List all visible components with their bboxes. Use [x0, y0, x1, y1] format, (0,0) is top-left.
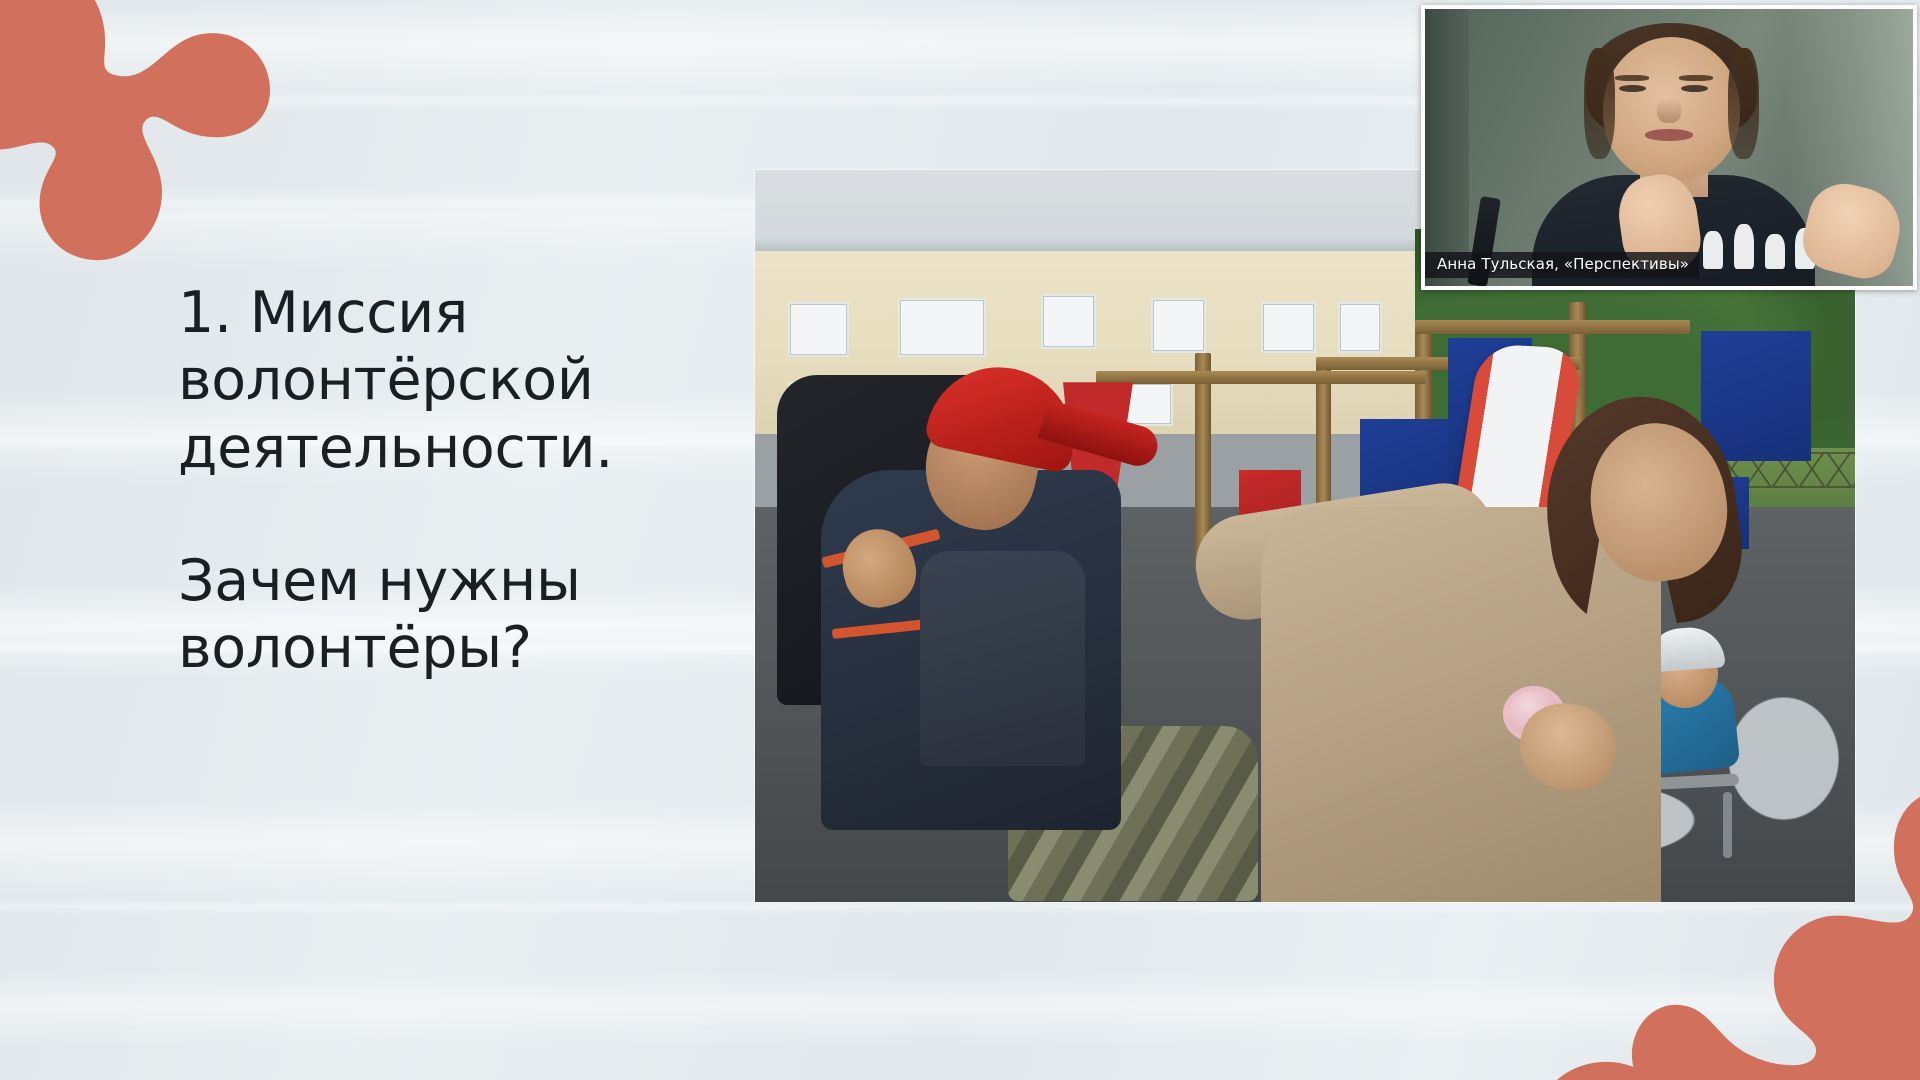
photo-playground-beam	[1096, 371, 1426, 384]
photo-slide-leg	[1723, 792, 1732, 858]
slide-text-container: 1. Миссия волонтёрской деятельности. Зач…	[178, 280, 698, 682]
webcam-speaker-brow	[1615, 75, 1649, 81]
photo-window	[1041, 294, 1096, 349]
photo-window	[788, 302, 849, 357]
slide-heading-primary: 1. Миссия волонтёрской деятельности.	[178, 280, 698, 482]
webcam-shirt-print	[1703, 220, 1815, 270]
speaker-name-label: Анна Тульская, «Перспективы»	[1425, 252, 1699, 278]
photo-volunteer-body	[1261, 507, 1661, 902]
photo-window	[1151, 298, 1206, 353]
slide-heading-secondary: Зачем нужны волонтёры?	[178, 548, 698, 683]
photo-window	[1338, 302, 1382, 353]
photo-window	[898, 298, 986, 357]
photo-window	[1261, 302, 1316, 353]
webcam-overlay[interactable]: Анна Тульская, «Перспективы»	[1421, 5, 1917, 290]
webcam-speaker-hair-side	[1728, 48, 1760, 159]
webcam-speaker-hair-side	[1584, 48, 1616, 159]
photo-playground-beam	[1415, 320, 1690, 334]
webcam-speaker-nose	[1657, 98, 1681, 123]
presentation-stage: 1. Миссия волонтёрской деятельности. Зач…	[0, 0, 1920, 1080]
photo-playground-panel	[1701, 331, 1811, 461]
webcam-wall-edge	[1425, 9, 1469, 286]
webcam-speaker-brow	[1679, 75, 1713, 81]
webcam-speaker-mouth	[1645, 129, 1694, 140]
photo-boy-vest	[920, 551, 1085, 766]
